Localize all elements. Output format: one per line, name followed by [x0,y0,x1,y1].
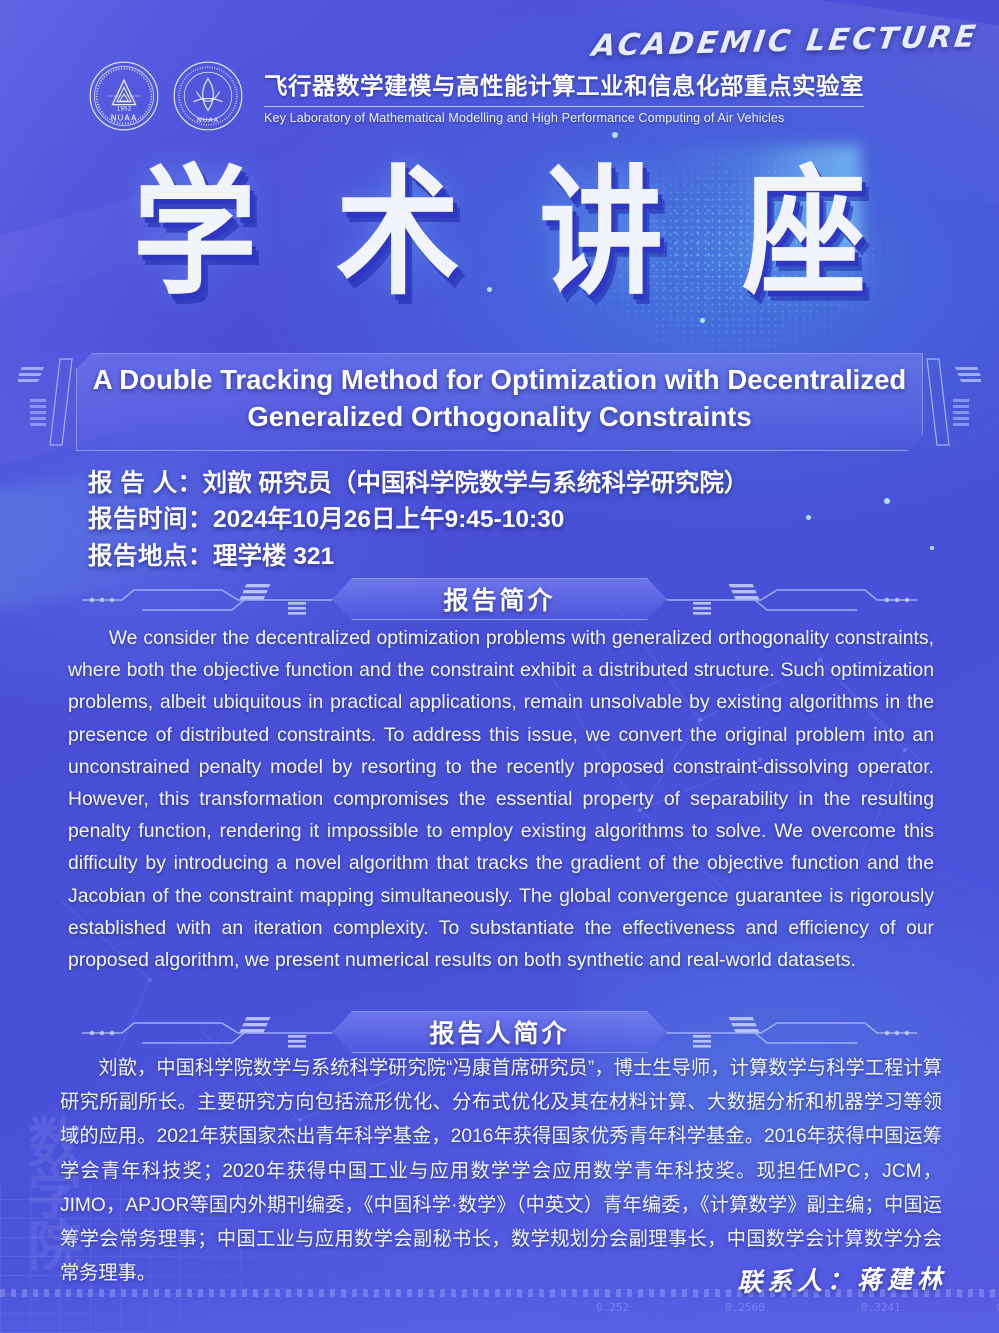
bio-section-header: 报告人简介 [0,1009,999,1055]
talk-title-text: A Double Tracking Method for Optimizatio… [88,361,911,436]
svg-text:NUAA: NUAA [197,116,219,124]
tech-frame-left-icon [18,357,74,447]
venue-label: 报告地点： [88,543,213,570]
contact-person: 联系人：蒋建林 [737,1259,948,1299]
abstract-paragraph: We consider the decentralized optimizati… [68,622,934,976]
spark-dot-icon [884,498,890,504]
chinese-watermark-decoration: 数学院 [28,1119,84,1273]
lecture-poster: ACADEMIC LECTURE 1952 NUAA NUA [0,0,999,1333]
bio-heading: 报告人简介 [429,1014,569,1050]
abstract-heading: 报告简介 [443,581,555,617]
ghost-number: 0.252 [596,1301,629,1317]
abstract-body: We consider the decentralized optimizati… [68,622,934,976]
bio-paragraph: 刘歆，中国科学院数学与系统科学研究院“冯康首席研究员”，博士生导师，计算数学与科… [60,1052,942,1291]
academic-lecture-eyebrow: ACADEMIC LECTURE [590,19,981,63]
bio-body: 刘歆，中国科学院数学与系统科学研究院“冯康首席研究员”，博士生导师，计算数学与科… [60,1052,942,1291]
tech-circuit-left-icon [82,576,332,622]
abstract-section-header: 报告简介 [0,576,999,622]
speaker-row: 报 告 人：刘歆 研究员（中国科学院数学与系统科学研究院） [88,466,748,502]
spark-dot-icon [806,515,811,520]
lab-divider [264,106,864,107]
tech-circuit-right-icon [667,576,917,622]
masthead: ACADEMIC LECTURE 1952 NUAA NUA [0,0,999,160]
ghost-number-row: 0.252 0.2560 0.3241 0.3868 0.37 [0,1301,999,1317]
lab-identity-block: 1952 NUAA NUAA 飞行器数学建模与高性能计算工业和信息化部重点实验室… [88,60,864,132]
svg-text:NUAA: NUAA [111,113,138,122]
speaker-value: 刘歆 研究员（中国科学院数学与系统科学研究院） [203,470,749,497]
poster-big-title: 学 术 讲 座 [0,160,999,310]
ghost-number: 0.3241 [861,1301,901,1317]
ghost-number: 0.2560 [725,1301,765,1317]
lab-name-cn: 飞行器数学建模与高性能计算工业和信息化部重点实验室 [264,67,864,101]
time-label: 报告时间： [88,506,213,533]
abstract-heading-plate: 报告简介 [332,578,667,620]
talk-title-banner: A Double Tracking Method for Optimizatio… [18,353,981,451]
svg-text:1952: 1952 [117,106,132,112]
time-value: 2024年10月26日上午9:45-10:30 [213,506,564,533]
nuaa-lab-seal-icon: NUAA [172,60,244,132]
lab-name-en: Key Laboratory of Mathematical Modelling… [264,111,864,125]
time-row: 报告时间：2024年10月26日上午9:45-10:30 [88,502,748,538]
venue-row: 报告地点：理学楼 321 [88,539,748,575]
tech-circuit-right-icon [667,1009,917,1055]
spark-dot-icon [930,546,934,550]
talk-details: 报 告 人：刘歆 研究员（中国科学院数学与系统科学研究院） 报告时间：2024年… [88,466,748,575]
spark-dot-icon [700,318,705,323]
speaker-label: 报 告 人： [88,470,203,497]
tech-circuit-left-icon [82,1009,332,1055]
nuaa-university-seal-icon: 1952 NUAA [88,60,160,132]
lab-name-group: 飞行器数学建模与高性能计算工业和信息化部重点实验室 Key Laboratory… [264,67,864,125]
venue-value: 理学楼 321 [213,543,334,570]
tech-frame-right-icon [925,357,981,447]
bio-heading-plate: 报告人简介 [332,1011,667,1053]
